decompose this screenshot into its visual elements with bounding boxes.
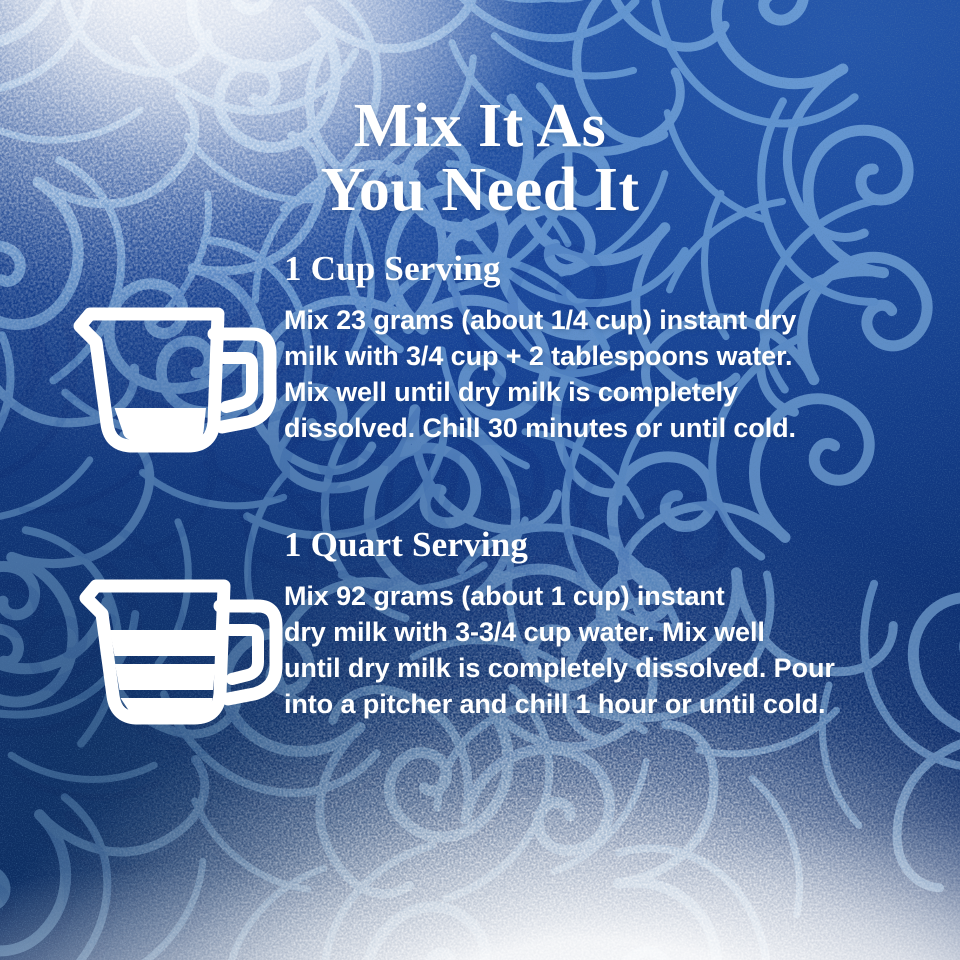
- serving-body-quart-line-1: Mix 92 grams (about 1 cup) instant: [284, 578, 835, 614]
- serving-body-cup-line-2: milk with 3/4 cup + 2 tablespoons water.: [284, 338, 796, 374]
- serving-section-quart: 1 Quart Serving Mix 92 grams (about 1 cu…: [52, 518, 922, 768]
- measuring-cup-quarter-full-icon: [56, 296, 286, 466]
- recipe-instruction-card: Mix It As You Need It 1 C: [0, 0, 960, 960]
- page-title-line-1: Mix It As: [0, 94, 960, 158]
- serving-body-cup: Mix 23 grams (about 1/4 cup) instant dry…: [284, 302, 796, 446]
- page-title: Mix It As You Need It: [0, 94, 960, 222]
- serving-body-cup-line-3: Mix well until dry milk is completely: [284, 374, 796, 410]
- serving-body-cup-line-4: dissolved. Chill 30 minutes or until col…: [284, 410, 796, 446]
- serving-body-cup-line-1: Mix 23 grams (about 1/4 cup) instant dry: [284, 302, 796, 338]
- serving-text-quart: 1 Quart Serving Mix 92 grams (about 1 cu…: [284, 526, 835, 722]
- serving-text-cup: 1 Cup Serving Mix 23 grams (about 1/4 cu…: [284, 250, 796, 446]
- serving-body-quart-line-4: into a pitcher and chill 1 hour or until…: [284, 686, 835, 722]
- page-title-line-2: You Need It: [0, 158, 960, 222]
- measuring-cup-full-icon: [62, 568, 292, 738]
- serving-body-quart: Mix 92 grams (about 1 cup) instant dry m…: [284, 578, 835, 722]
- serving-section-cup: 1 Cup Serving Mix 23 grams (about 1/4 cu…: [48, 240, 918, 490]
- serving-body-quart-line-3: until dry milk is completely dissolved. …: [284, 650, 835, 686]
- serving-body-quart-line-2: dry milk with 3-3/4 cup water. Mix well: [284, 614, 835, 650]
- serving-heading-quart: 1 Quart Serving: [284, 526, 835, 564]
- serving-heading-cup: 1 Cup Serving: [284, 250, 796, 288]
